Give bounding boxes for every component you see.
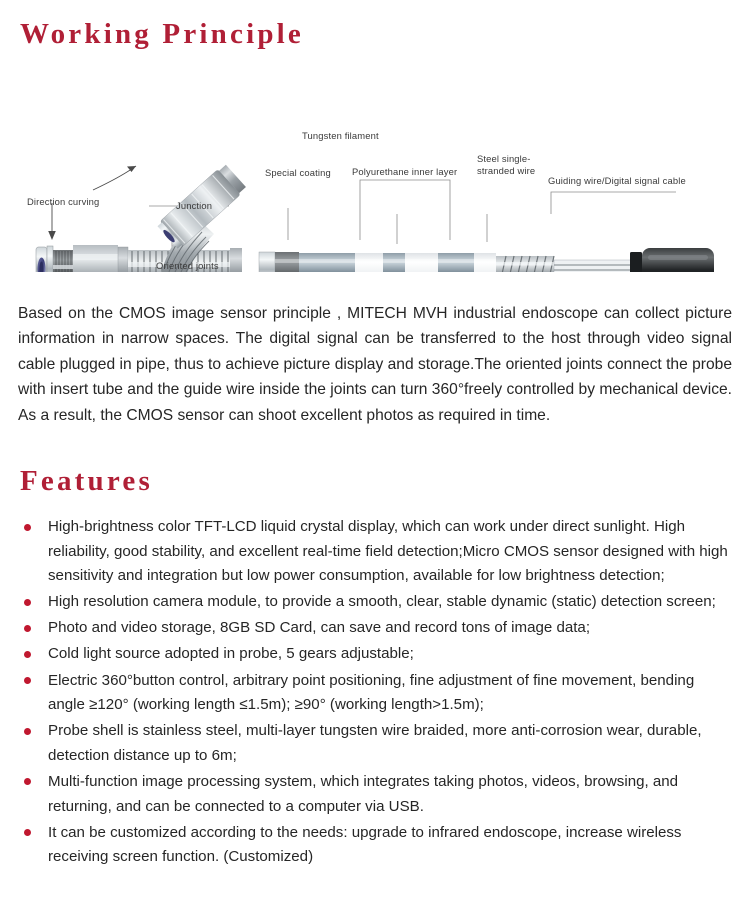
diagram-label-junction: Junction: [176, 200, 212, 211]
diagram-label-steel-single-stranded-wire-line1: Steel single-: [477, 153, 531, 164]
feature-text: Multi-function image processing system, …: [48, 773, 678, 815]
diagram-label-guiding-wire-digital-signal-cable: Guiding wire/Digital signal cable: [548, 175, 686, 186]
feature-text: High-brightness color TFT-LCD liquid cry…: [48, 518, 728, 584]
diagram-label-direction-curving: Direction curving: [27, 196, 99, 207]
feature-text: Electric 360°button control, arbitrary p…: [48, 672, 694, 714]
list-item: It can be customized according to the ne…: [18, 821, 734, 870]
diagram-label-tungsten-filament: Tungsten filament: [302, 130, 379, 141]
bullet-icon: [24, 728, 31, 735]
diagram-label-oriented-joints: Oriented joints: [156, 260, 219, 271]
diagram-label-special-coating: Special coating: [265, 167, 331, 178]
feature-text: Probe shell is stainless steel, multi-la…: [48, 722, 702, 764]
bullet-icon: [24, 778, 31, 785]
diagram-label-steel-single-stranded-wire-line2: stranded wire: [477, 165, 535, 176]
product-description-page: Working Principle: [0, 0, 750, 921]
feature-text: Cold light source adopted in probe, 5 ge…: [48, 645, 414, 662]
page-title-working-principle: Working Principle: [20, 20, 304, 49]
guiding-wire-bundle: [554, 248, 714, 272]
bullet-icon: [24, 524, 31, 531]
list-item: Cold light source adopted in probe, 5 ge…: [18, 642, 734, 667]
list-item: Multi-function image processing system, …: [18, 770, 734, 819]
bullet-icon: [24, 651, 31, 658]
features-list: High-brightness color TFT-LCD liquid cry…: [18, 515, 734, 871]
list-item: High resolution camera module, to provid…: [18, 590, 734, 615]
diagram-label-polyurethane-inner-layer: Polyurethane inner layer: [352, 166, 457, 177]
probe-head: [36, 245, 128, 272]
working-principle-paragraph: Based on the CMOS image sensor principle…: [18, 301, 732, 429]
endoscope-diagram: Direction curving Junction Oriented join…: [0, 62, 750, 272]
feature-text: High resolution camera module, to provid…: [48, 593, 716, 610]
steel-stranded-wire-section: [496, 256, 554, 272]
list-item: Photo and video storage, 8GB SD Card, ca…: [18, 616, 734, 641]
list-item: Electric 360°button control, arbitrary p…: [18, 669, 734, 718]
bullet-icon: [24, 829, 31, 836]
list-item: Probe shell is stainless steel, multi-la…: [18, 719, 734, 768]
page-title-features: Features: [20, 467, 153, 496]
insert-tube-cutaway: [259, 252, 496, 272]
bullet-icon: [24, 599, 31, 606]
feature-text: It can be customized according to the ne…: [48, 824, 681, 866]
bullet-icon: [24, 625, 31, 632]
bullet-icon: [24, 677, 31, 684]
list-item: High-brightness color TFT-LCD liquid cry…: [18, 515, 734, 589]
feature-text: Photo and video storage, 8GB SD Card, ca…: [48, 619, 590, 636]
